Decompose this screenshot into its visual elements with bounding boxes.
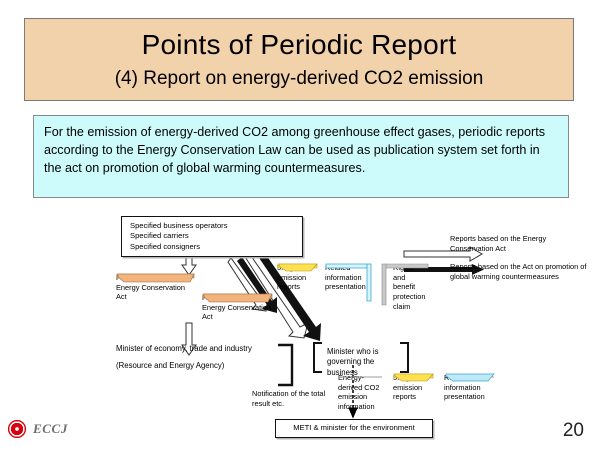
ribbon-side-bar-related (366, 263, 372, 303)
ribbon-gas-reports-upper: 5.5 gas emission reports (277, 263, 319, 292)
ribbon-co2-info-lower: Energy-derived CO2 emission information (338, 373, 383, 412)
meti-environment-text: METI & minister for the environment (293, 423, 415, 433)
ribbon-related-info-upper: Related information presentation (325, 263, 369, 292)
ribbon-side-bar-rights (381, 263, 387, 307)
ribbon-related-info-lower: Related information presentation (444, 373, 496, 402)
flow-diagram: Specified business operators Specified c… (0, 205, 600, 450)
ribbon-bottom-bar (277, 263, 319, 273)
bracket-label-line2: (Resource and Energy Agency) (116, 361, 271, 371)
ribbon-top-bar (338, 373, 383, 379)
ribbon-bottom-bar (444, 373, 496, 383)
bracket-label-meti-agency: Minister of economy, trade and industry … (116, 344, 271, 372)
eccj-mark-icon (8, 420, 26, 438)
eccj-logo-text: ECCJ (33, 421, 68, 437)
page-number: 20 (563, 420, 584, 442)
ribbon-bottom-bar (393, 373, 435, 383)
slide-canvas: Points of Periodic Report (4) Report on … (0, 0, 600, 450)
ribbon-periodic-reports-left: Periodic reports of Energy Conservation … (116, 273, 196, 302)
description-box: For the emission of energy-derived CO2 a… (33, 115, 569, 198)
specified-entities-line: Specified business operators (130, 221, 302, 231)
ribbon-label-text: Rights and benefit protection claim (384, 263, 424, 311)
notification-label: Notification of the total result etc. (252, 389, 332, 409)
ribbon-rights-claim: Rights and benefit protection claim (384, 263, 424, 311)
ribbon-periodic-reports-center: Periodic reports of Energy Conservation … (202, 293, 274, 322)
slide-title-box: Points of Periodic Report (4) Report on … (24, 18, 574, 101)
ribbon-gas-reports-lower: 5.5 gas emission reports (393, 373, 435, 402)
specified-entities-line: Specified carriers (130, 231, 302, 241)
specified-entities-line: Specified consigners (130, 242, 302, 252)
eccj-logo: ECCJ (8, 420, 68, 438)
slide-title-main: Points of Periodic Report (142, 29, 457, 60)
ribbon-top-bar (384, 263, 430, 269)
ribbon-bottom-bar (202, 293, 274, 305)
description-text: For the emission of energy-derived CO2 a… (44, 124, 558, 178)
bracket-label-line1: Minister of economy, trade and industry (116, 344, 271, 354)
ribbon-bottom-bar (116, 273, 196, 285)
legend-energy-conservation-act: Reports based on the Energy Conservation… (450, 234, 590, 254)
ribbon-top-bar (325, 263, 369, 269)
slide-title-sub: (4) Report on energy-derived CO2 emissio… (115, 68, 484, 90)
specified-entities-box: Specified business operators Specified c… (121, 216, 303, 257)
meti-environment-box: METI & minister for the environment (275, 419, 433, 438)
legend-global-warming-act: Reports based on the Act on promotion of… (450, 262, 595, 282)
